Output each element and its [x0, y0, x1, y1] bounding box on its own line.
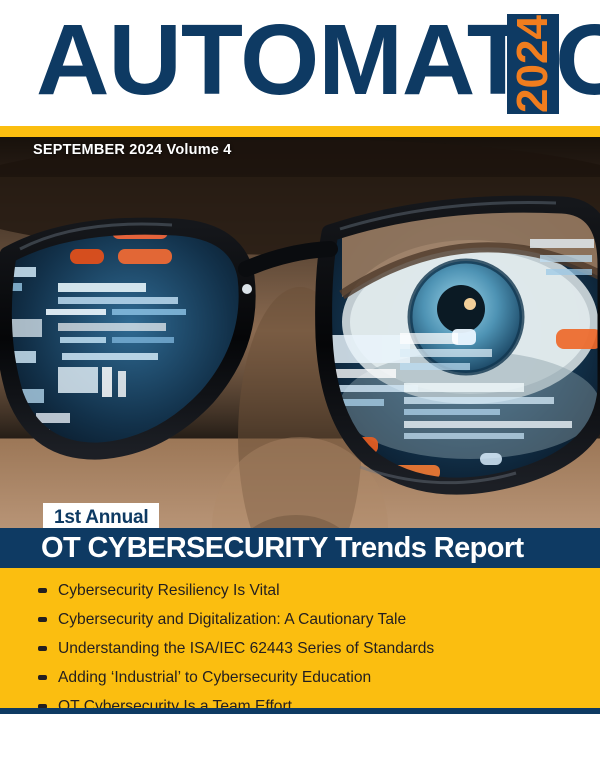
contents-list: Cybersecurity Resiliency Is Vital Cybers…: [0, 568, 600, 721]
year-block: 2024: [507, 14, 559, 114]
list-item[interactable]: Adding ‘Industrial’ to Cybersecurity Edu…: [0, 663, 600, 692]
headline-rest: Trends Report: [327, 532, 523, 564]
square-bullet-icon: [38, 588, 47, 593]
masthead: AUTOMATION 2024: [0, 0, 600, 126]
list-item-label: Cybersecurity and Digitalization: A Caut…: [58, 611, 406, 628]
year-label: 2024: [511, 15, 555, 113]
square-bullet-icon: [38, 675, 47, 680]
footer: A UTOMATION COM ISA A subsidiary of the …: [0, 714, 600, 776]
headline-strong: OT CYBERSECURITY: [41, 532, 327, 564]
headline: OT CYBERSECURITY Trends Report: [41, 531, 524, 565]
list-item[interactable]: Understanding the ISA/IEC 62443 Series o…: [0, 634, 600, 663]
magazine-cover: AUTOMATION 2024: [0, 0, 600, 776]
list-item-label: Cybersecurity Resiliency Is Vital: [58, 582, 280, 599]
square-bullet-icon: [38, 646, 47, 651]
list-item-label: Adding ‘Industrial’ to Cybersecurity Edu…: [58, 669, 371, 686]
issue-line: SEPTEMBER 2024 Volume 4: [33, 142, 232, 158]
square-bullet-icon: [38, 617, 47, 622]
list-item-label: Understanding the ISA/IEC 62443 Series o…: [58, 640, 434, 657]
list-item[interactable]: Cybersecurity Resiliency Is Vital: [0, 576, 600, 605]
list-item[interactable]: Cybersecurity and Digitalization: A Caut…: [0, 605, 600, 634]
gold-rule-top: [0, 126, 600, 137]
